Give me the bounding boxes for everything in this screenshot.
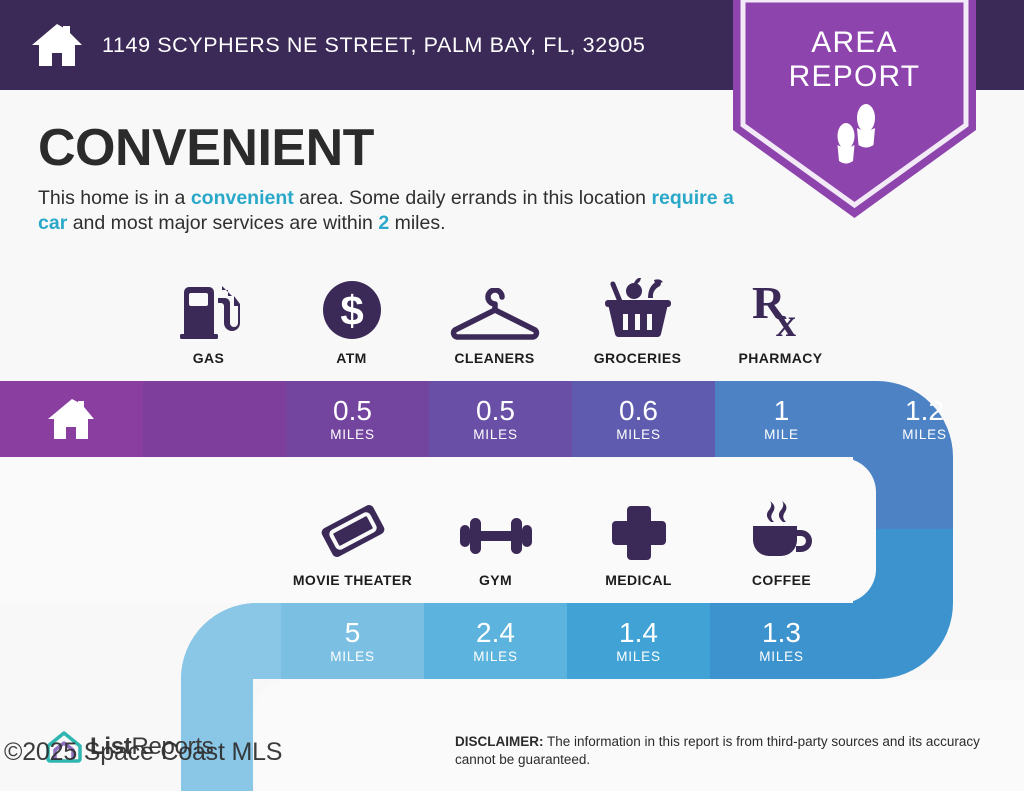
distance-row-2: 5 MILES 2.4 MILES 1.4 MILES 1.3 MILES [281, 603, 853, 679]
distance-unit: MILES [616, 427, 661, 442]
medical-cross-icon [610, 500, 668, 562]
hanger-icon [447, 278, 543, 340]
amenity-coffee: COFFEE [710, 500, 853, 588]
amenity-label: ATM [336, 350, 367, 366]
amenity-label: MEDICAL [605, 572, 672, 588]
dumbbell-icon [456, 500, 536, 562]
distance-unit: MILES [473, 649, 518, 664]
amenity-label: COFFEE [752, 572, 811, 588]
distance-unit: MILES [473, 427, 518, 442]
distance-value: 1.2 [905, 396, 944, 426]
distance-row-1: 0.5 MILES 0.5 MILES 0.6 MILES 1 MILE 1.2… [281, 381, 996, 457]
amenity-cleaners: CLEANERS [423, 278, 566, 366]
distance-value: 0.6 [619, 396, 658, 426]
amenity-gas: GAS [137, 278, 280, 366]
svg-text:$: $ [340, 287, 363, 334]
amenity-label: MOVIE THEATER [293, 572, 412, 588]
distance-cell: 0.6 MILES [567, 381, 710, 457]
badge-label: AREA REPORT [733, 26, 976, 94]
amenity-icon-row-2: MOVIE THEATER GYM [281, 500, 853, 588]
amenity-pharmacy: R x PHARMACY [709, 278, 852, 366]
distance-unit: MILES [330, 427, 375, 442]
distance-cell: 2.4 MILES [424, 603, 567, 679]
amenity-medical: MEDICAL [567, 500, 710, 588]
distance-value: 1.3 [762, 618, 801, 648]
distance-cell: 1.4 MILES [567, 603, 710, 679]
distance-unit: MILE [764, 427, 799, 442]
amenity-gym: GYM [424, 500, 567, 588]
distance-value: 0.5 [333, 396, 372, 426]
distance-cell: 0.5 MILES [424, 381, 567, 457]
mls-watermark: ©2025 Space Coast MLS [4, 738, 282, 767]
svg-text:x: x [776, 300, 796, 340]
amenity-label: GYM [479, 572, 512, 588]
distance-value: 1 [774, 396, 790, 426]
distance-cell: 1.2 MILES [853, 381, 996, 457]
dollar-circle-icon: $ [322, 278, 382, 340]
badge-line-1: AREA [733, 26, 976, 60]
coffee-cup-icon [749, 500, 815, 562]
distance-cell: 1 MILE [710, 381, 853, 457]
distance-value: 2.4 [476, 618, 515, 648]
amenity-label: PHARMACY [738, 350, 822, 366]
area-report-badge: AREA REPORT [733, 0, 976, 218]
amenity-label: GAS [193, 350, 225, 366]
disclaimer-label: DISCLAIMER: [455, 734, 544, 749]
distance-value: 5 [345, 618, 361, 648]
home-marker [0, 381, 143, 457]
distance-unit: MILES [330, 649, 375, 664]
amenity-label: GROCERIES [594, 350, 682, 366]
disclaimer: DISCLAIMER: The information in this repo… [455, 733, 1000, 769]
amenity-movie-theater: MOVIE THEATER [281, 500, 424, 588]
distance-cell: 1.3 MILES [710, 603, 853, 679]
distance-value: 1.4 [619, 618, 658, 648]
grocery-basket-icon [604, 278, 672, 340]
badge-line-2: REPORT [733, 60, 976, 94]
amenity-groceries: GROCERIES [566, 278, 709, 366]
distance-unit: MILES [902, 427, 947, 442]
amenity-atm: $ ATM [280, 278, 423, 366]
distance-value: 0.5 [476, 396, 515, 426]
amenity-label: CLEANERS [454, 350, 534, 366]
rx-icon: R x [750, 278, 812, 340]
ticket-icon [318, 500, 388, 562]
distance-unit: MILES [759, 649, 804, 664]
amenity-icon-row-1: GAS $ ATM CLEANERS [137, 278, 852, 366]
distance-cell: 5 MILES [281, 603, 424, 679]
area-report-page: 1149 SCYPHERS NE STREET, PALM BAY, FL, 3… [0, 0, 1024, 791]
distance-unit: MILES [616, 649, 661, 664]
distance-cell: 0.5 MILES [281, 381, 424, 457]
gas-pump-icon [178, 278, 240, 340]
